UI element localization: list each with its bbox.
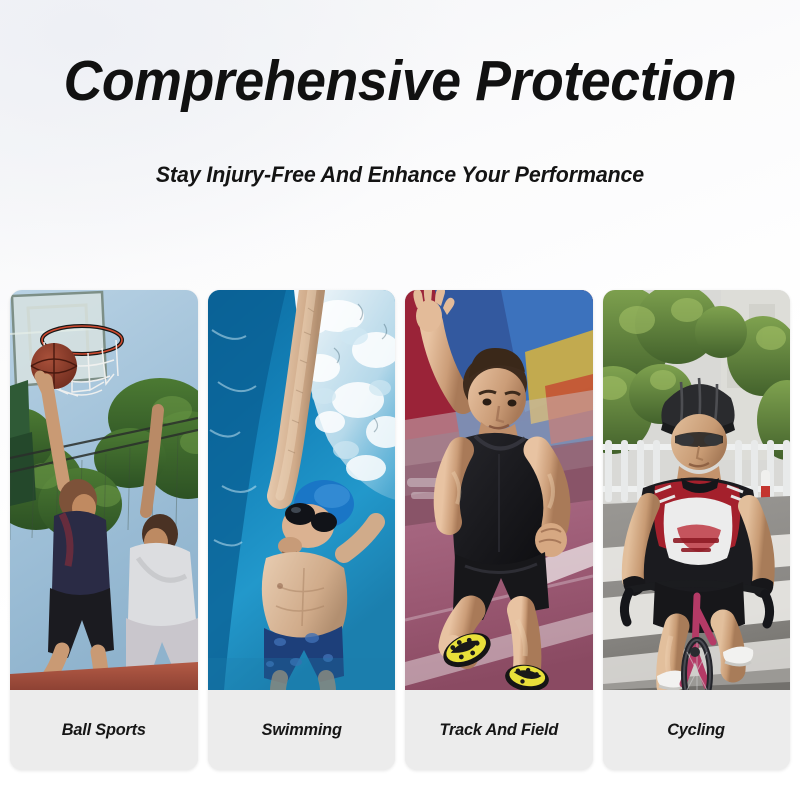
card-label-track-and-field: Track And Field: [439, 720, 558, 740]
category-card-swimming[interactable]: Swimming: [208, 290, 396, 770]
poster-root: Comprehensive Protection Stay Injury-Fre…: [0, 0, 800, 800]
category-card-track-and-field[interactable]: Track And Field: [405, 290, 593, 770]
label-strip-track-and-field: Track And Field: [405, 690, 593, 770]
basketball-scene-illustration: [10, 290, 198, 690]
category-card-ball-sports[interactable]: Ball Sports: [10, 290, 198, 770]
page-title: Comprehensive Protection: [24, 0, 776, 112]
label-strip-cycling: Cycling: [603, 690, 791, 770]
page-subtitle: Stay Injury-Free And Enhance Your Perfor…: [12, 112, 788, 188]
photo-track-and-field: [405, 290, 593, 690]
photo-ball-sports: [10, 290, 198, 690]
swimming-scene-illustration: [208, 290, 396, 690]
card-label-swimming: Swimming: [261, 720, 341, 740]
category-card-row: Ball Sports: [10, 290, 790, 770]
track-scene-illustration: [405, 290, 593, 690]
poster-header: Comprehensive Protection Stay Injury-Fre…: [0, 0, 800, 188]
cycling-scene-illustration: [603, 290, 791, 690]
photo-swimming: [208, 290, 396, 690]
card-label-ball-sports: Ball Sports: [62, 720, 146, 740]
label-strip-swimming: Swimming: [208, 690, 396, 770]
label-strip-ball-sports: Ball Sports: [10, 690, 198, 770]
card-label-cycling: Cycling: [667, 720, 725, 740]
category-card-cycling[interactable]: Cycling: [603, 290, 791, 770]
photo-cycling: [603, 290, 791, 690]
